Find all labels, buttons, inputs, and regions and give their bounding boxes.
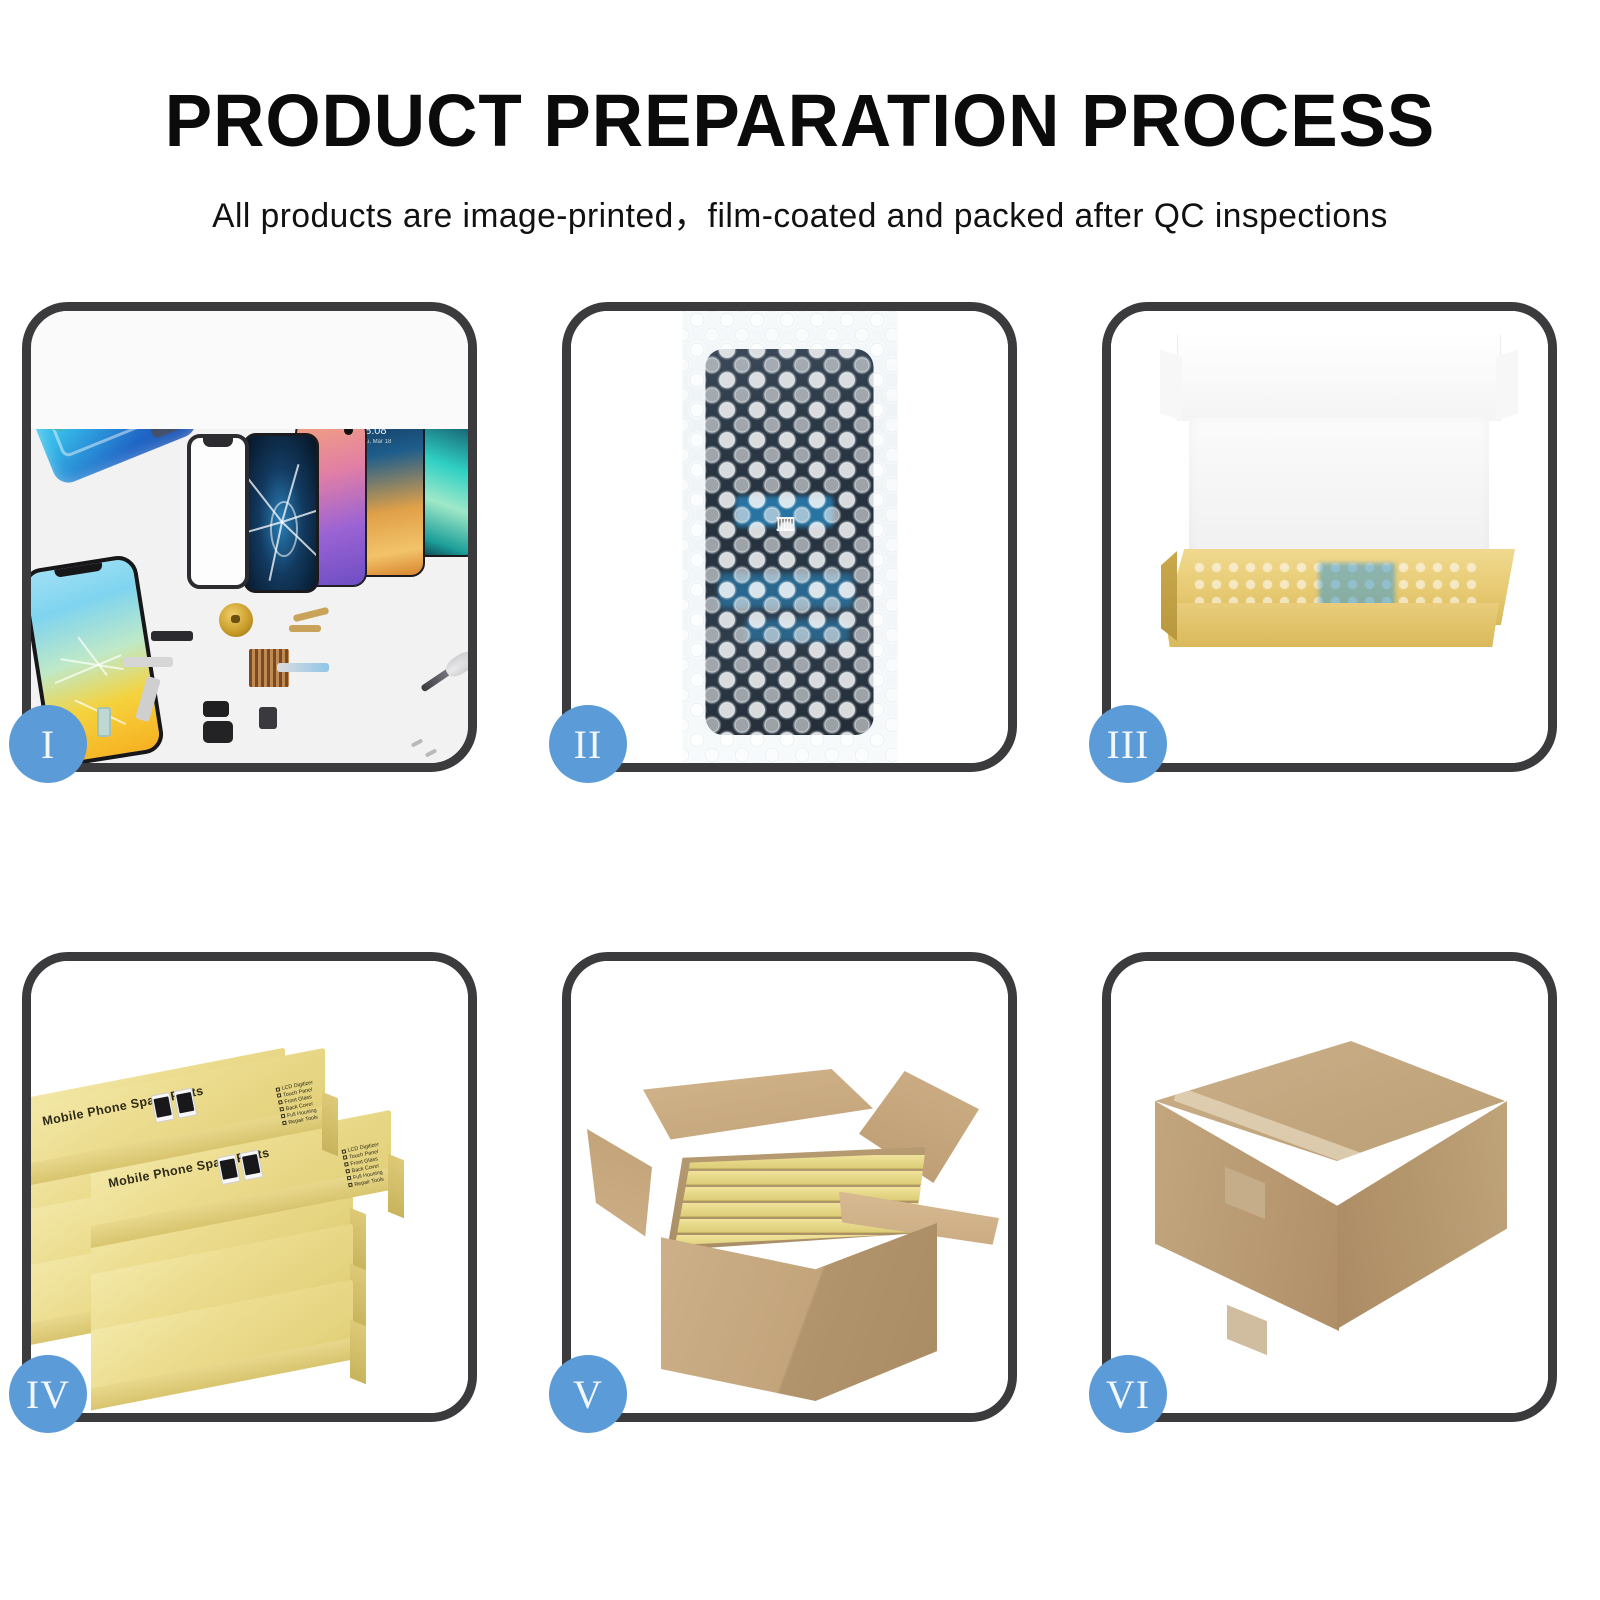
cracked-display-phone: [243, 433, 319, 593]
battery-connector: [259, 707, 277, 729]
adhesive-frame-part: [31, 327, 200, 488]
flex-cable-3: [277, 663, 329, 672]
retail-box-printed: Mobile Phone Spare Parts LCD Digitizer T…: [31, 1077, 325, 1187]
step-panel-1: 08:08 Thu, Mar 18: [22, 302, 477, 772]
sim-tray: [97, 707, 111, 737]
step-image-5: [571, 961, 1008, 1413]
step-image-4: Mobile Phone Spare Parts LCD Digitizer T…: [31, 961, 468, 1413]
step-badge-6: VI: [1089, 1355, 1167, 1433]
step-panel-2: II: [562, 302, 1017, 772]
step-panel-4: Mobile Phone Spare Parts LCD Digitizer T…: [22, 952, 477, 1422]
stacked-boxes-scene: Mobile Phone Spare Parts LCD Digitizer T…: [31, 961, 468, 1413]
phone-back-housing: [31, 311, 198, 434]
screw-2: [425, 748, 437, 757]
step-badge-3: III: [1089, 705, 1167, 783]
carton-body: [661, 1223, 937, 1401]
retail-box-checklist: LCD Digitizer Touch Panel Front Glass Ba…: [342, 1142, 387, 1190]
open-mailer-scene: [1111, 311, 1548, 763]
tape-seal-lower: [1227, 1305, 1267, 1355]
open-carton-scene: [571, 961, 1008, 1413]
step-badge-4: IV: [9, 1355, 87, 1433]
step-image-1: 08:08 Thu, Mar 18: [31, 311, 468, 763]
step-badge-5: V: [549, 1355, 627, 1433]
front-glass-panel: [187, 434, 249, 589]
cleaning-brush-tool: [417, 647, 468, 698]
bubble-wrap-scene: [571, 311, 1008, 763]
flex-cable-2: [289, 625, 321, 632]
camera-module-2: [203, 721, 233, 743]
sealed-carton-scene: [1111, 961, 1548, 1413]
wireless-charging-coil: [219, 603, 253, 637]
speaker-component: [151, 631, 193, 641]
product-preparation-infographic: PRODUCT PREPARATION PROCESS All products…: [0, 0, 1600, 1600]
step-panel-3: III: [1102, 302, 1557, 772]
step-badge-2: II: [549, 705, 627, 783]
step-image-2: [571, 311, 1008, 763]
step-panel-6: VI: [1102, 952, 1557, 1422]
white-foam-insert: [1189, 417, 1489, 559]
retail-box-stack-item: [91, 1305, 353, 1413]
step-badge-1: I: [9, 705, 87, 783]
bubble-outlines: [682, 311, 897, 763]
flex-cable-4: [123, 657, 173, 667]
carton-flap-back: [643, 1069, 873, 1155]
mailer-tray-front: [1163, 603, 1499, 647]
mailer-lid-open: [1177, 335, 1501, 421]
steps-grid: 08:08 Thu, Mar 18: [0, 0, 1600, 1600]
step-image-3: [1111, 311, 1548, 763]
camera-module-1: [203, 701, 229, 717]
flex-cable-1: [293, 607, 330, 623]
screw-1: [411, 738, 423, 747]
bubble-wrap-bag: [682, 311, 897, 763]
retail-box-checklist: LCD Digitizer Touch Panel Front Glass Ba…: [276, 1080, 321, 1128]
mailer-tray-left: [1161, 551, 1177, 641]
step-panel-5: V: [562, 952, 1017, 1422]
phone-parts-scene: 08:08 Thu, Mar 18: [31, 311, 468, 763]
step-image-6: [1111, 961, 1548, 1413]
